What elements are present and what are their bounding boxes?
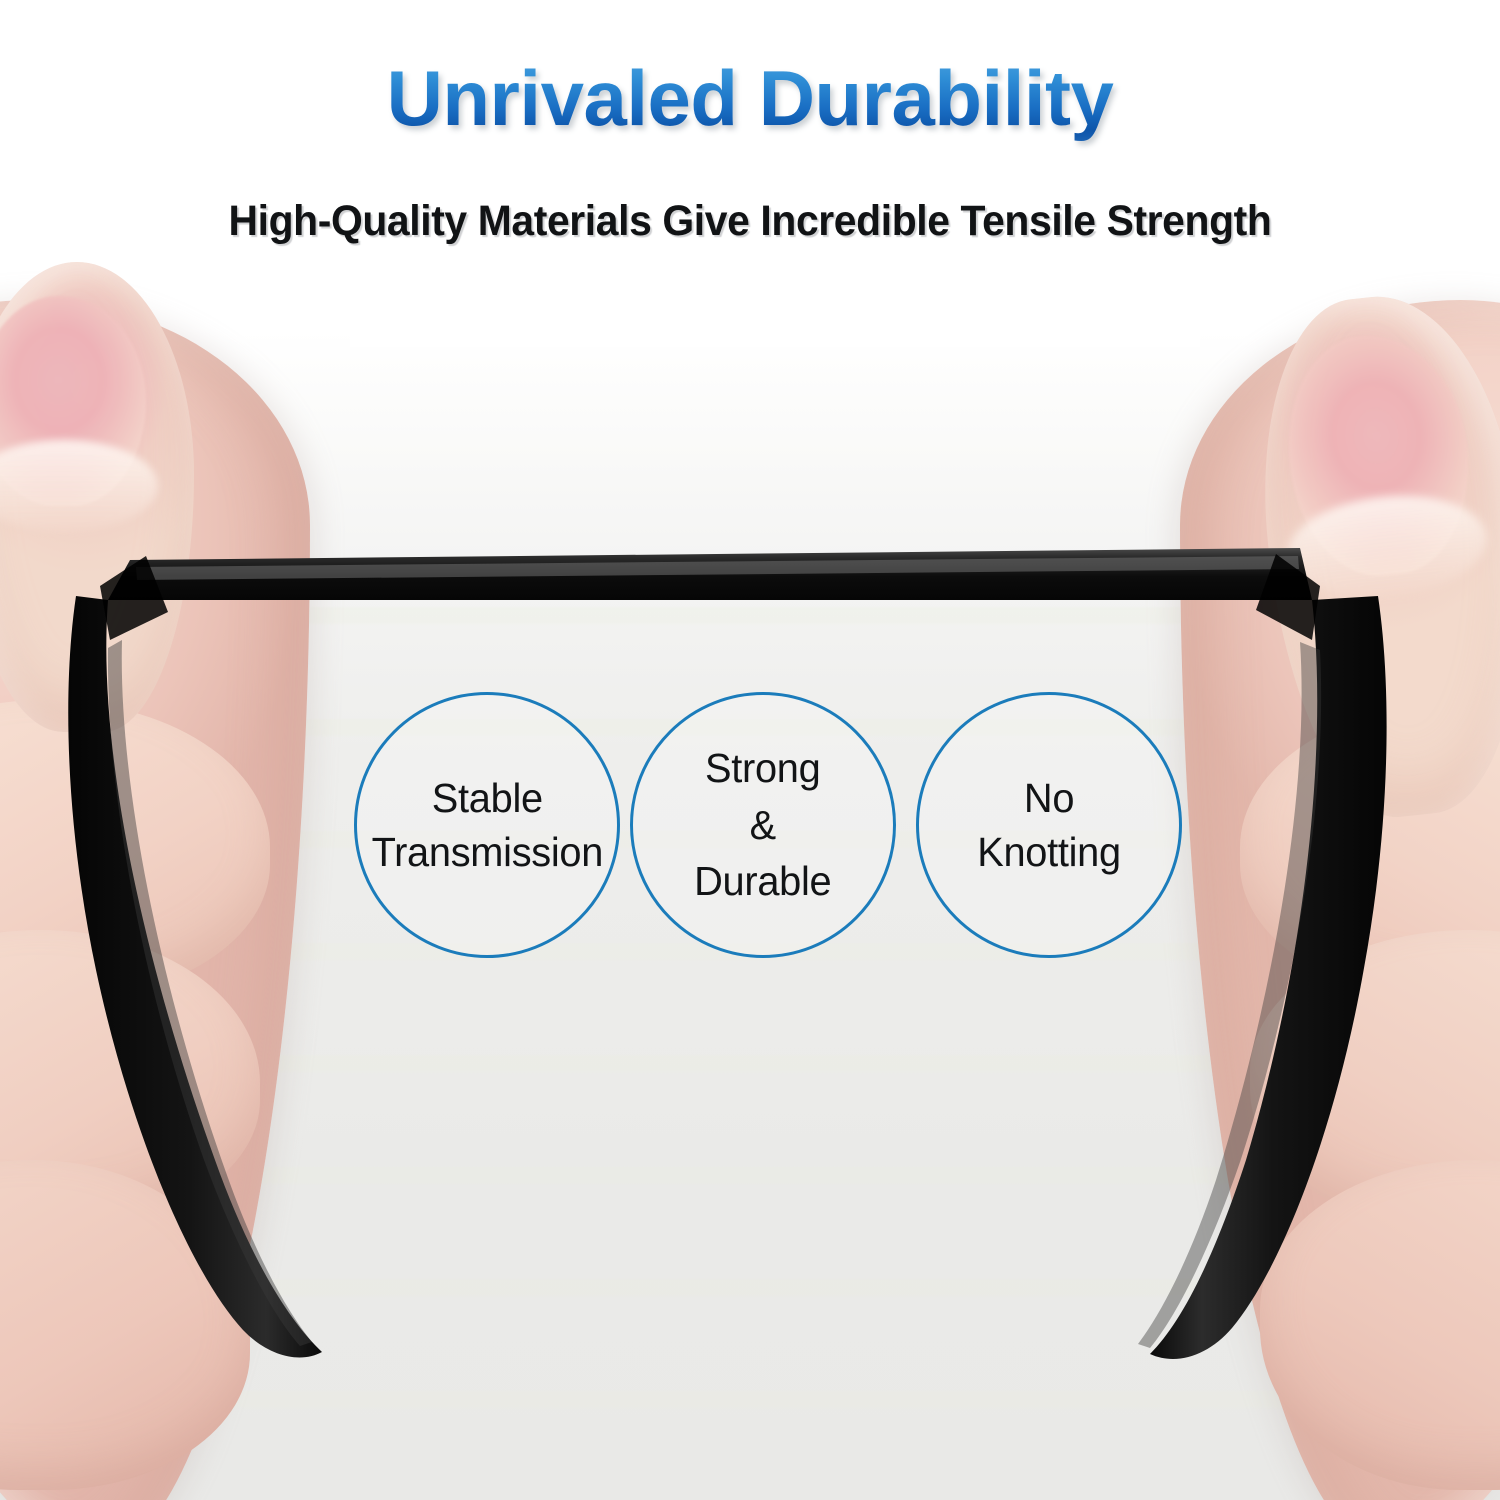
feature-badge-label: Strong & Durable (694, 740, 831, 910)
feature-line-2: Knotting (977, 825, 1121, 879)
feature-line-1: Stable (371, 771, 603, 825)
feature-line-2: Transmission (371, 825, 603, 879)
feature-badge-no-knotting: No Knotting (916, 692, 1182, 958)
page-title: Unrivaled Durability (0, 56, 1500, 142)
feature-badge-strong-durable: Strong & Durable (630, 692, 896, 958)
feature-badge-label: Stable Transmission (371, 771, 603, 879)
feature-line-1: Strong (694, 740, 831, 797)
page-subtitle: High-Quality Materials Give Incredible T… (38, 197, 1463, 246)
header-banner-panel (350, 0, 1200, 347)
feature-line-2: & (694, 797, 831, 854)
feature-badge-label: No Knotting (977, 771, 1121, 879)
feature-badges: Stable Transmission Strong & Durable No … (0, 690, 1500, 970)
feature-line-1: No (977, 771, 1121, 825)
feature-badge-stable-transmission: Stable Transmission (354, 692, 620, 958)
feature-line-3: Durable (694, 853, 831, 910)
product-marketing-image: Unrivaled Durability High-Quality Materi… (0, 0, 1500, 1500)
